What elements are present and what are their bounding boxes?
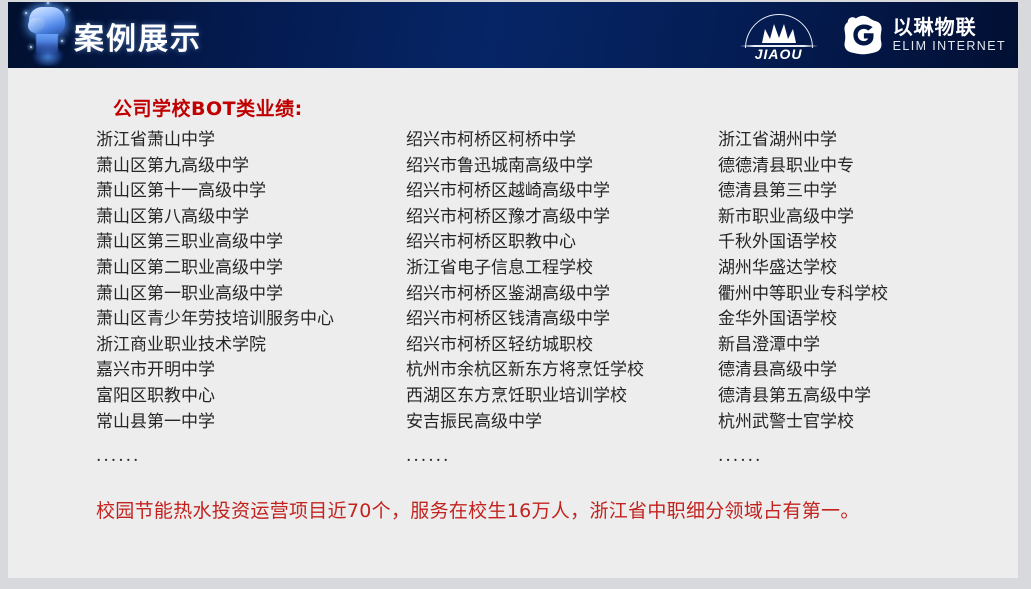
list-item: 萧山区第三职业高级中学 xyxy=(96,230,406,256)
list-item: 德清县第三中学 xyxy=(718,179,1016,205)
list-item: 湖州华盛达学校 xyxy=(718,256,1016,282)
slide-header: 案例展示 JIAOU 以琳物联 ELIM INTERNET xyxy=(8,2,1018,68)
jiaou-logo-text: JIAOU xyxy=(738,46,820,62)
header-logos: JIAOU 以琳物联 ELIM INTERNET xyxy=(738,2,1006,68)
list-ellipsis: ...... xyxy=(96,444,406,470)
list-item: 绍兴市柯桥区职教中心 xyxy=(406,230,718,256)
page-title: 案例展示 xyxy=(74,14,202,58)
sunburst-crown-icon xyxy=(761,22,797,44)
list-item: 德清县高级中学 xyxy=(718,358,1016,384)
section-title: 公司学校BOT类业绩: xyxy=(113,94,303,121)
list-item: 绍兴市柯桥区柯桥中学 xyxy=(406,128,718,154)
list-item: 千秋外国语学校 xyxy=(718,230,1016,256)
list-item: 绍兴市鲁迅城南高级中学 xyxy=(406,154,718,180)
list-item: 萧山区青少年劳技培训服务中心 xyxy=(96,307,406,333)
jiaou-logo: JIAOU xyxy=(738,9,820,61)
list-item: 嘉兴市开明中学 xyxy=(96,358,406,384)
school-column-3: 浙江省湖州中学 德德清县职业中专 德清县第三中学 新市职业高级中学 千秋外国语学… xyxy=(718,128,1016,470)
list-item: 衢州中等职业专科学校 xyxy=(718,282,1016,308)
school-column-1: 浙江省萧山中学 萧山区第九高级中学 萧山区第十一高级中学 萧山区第八高级中学 萧… xyxy=(96,128,406,470)
list-item: 绍兴市柯桥区鉴湖高级中学 xyxy=(406,282,718,308)
list-item: 浙江商业职业技术学院 xyxy=(96,333,406,359)
list-item: 金华外国语学校 xyxy=(718,307,1016,333)
list-item: 安吉振民高级中学 xyxy=(406,410,718,436)
list-item: 萧山区第九高级中学 xyxy=(96,154,406,180)
bottom-strip xyxy=(0,578,1031,589)
list-item: 浙江省湖州中学 xyxy=(718,128,1016,154)
list-item: 杭州市余杭区新东方将烹饪学校 xyxy=(406,358,718,384)
slide: 案例展示 JIAOU 以琳物联 ELIM INTERNET xyxy=(8,2,1018,578)
elim-logo-name-en: ELIM INTERNET xyxy=(893,40,1006,53)
school-column-2: 绍兴市柯桥区柯桥中学 绍兴市鲁迅城南高级中学 绍兴市柯桥区越崎高级中学 绍兴市柯… xyxy=(406,128,718,470)
list-item: 绍兴市柯桥区轻纺城职校 xyxy=(406,333,718,359)
list-item: 萧山区第十一高级中学 xyxy=(96,179,406,205)
list-item: 萧山区第八高级中学 xyxy=(96,205,406,231)
list-item: 萧山区第二职业高级中学 xyxy=(96,256,406,282)
g-hexagon-mark-icon xyxy=(842,14,884,56)
list-item: 浙江省萧山中学 xyxy=(96,128,406,154)
list-item: 新昌澄潭中学 xyxy=(718,333,1016,359)
list-item: 浙江省电子信息工程学校 xyxy=(406,256,718,282)
list-item: 德德清县职业中专 xyxy=(718,154,1016,180)
list-ellipsis: ...... xyxy=(718,444,1016,470)
list-item: 萧山区第一职业高级中学 xyxy=(96,282,406,308)
summary-note: 校园节能热水投资运营项目近70个，服务在校生16万人，浙江省中职细分领域占有第一… xyxy=(96,496,996,523)
list-item: 绍兴市柯桥区豫才高级中学 xyxy=(406,205,718,231)
list-item: 杭州武警士官学校 xyxy=(718,410,1016,436)
list-item: 富阳区职教中心 xyxy=(96,384,406,410)
list-item: 德清县第五高级中学 xyxy=(718,384,1016,410)
list-item: 绍兴市柯桥区越崎高级中学 xyxy=(406,179,718,205)
list-item: 新市职业高级中学 xyxy=(718,205,1016,231)
list-ellipsis: ...... xyxy=(406,444,718,470)
list-item: 常山县第一中学 xyxy=(96,410,406,436)
slide-body: 公司学校BOT类业绩: 浙江省萧山中学 萧山区第九高级中学 萧山区第十一高级中学… xyxy=(8,68,1018,578)
elim-logo-name-cn: 以琳物联 xyxy=(893,17,1006,37)
glowing-fist-icon xyxy=(16,2,82,68)
list-item: 西湖区东方烹饪职业培训学校 xyxy=(406,384,718,410)
school-list-columns: 浙江省萧山中学 萧山区第九高级中学 萧山区第十一高级中学 萧山区第八高级中学 萧… xyxy=(96,128,1016,470)
elim-logo: 以琳物联 ELIM INTERNET xyxy=(842,14,1006,56)
list-item: 绍兴市柯桥区钱清高级中学 xyxy=(406,307,718,333)
